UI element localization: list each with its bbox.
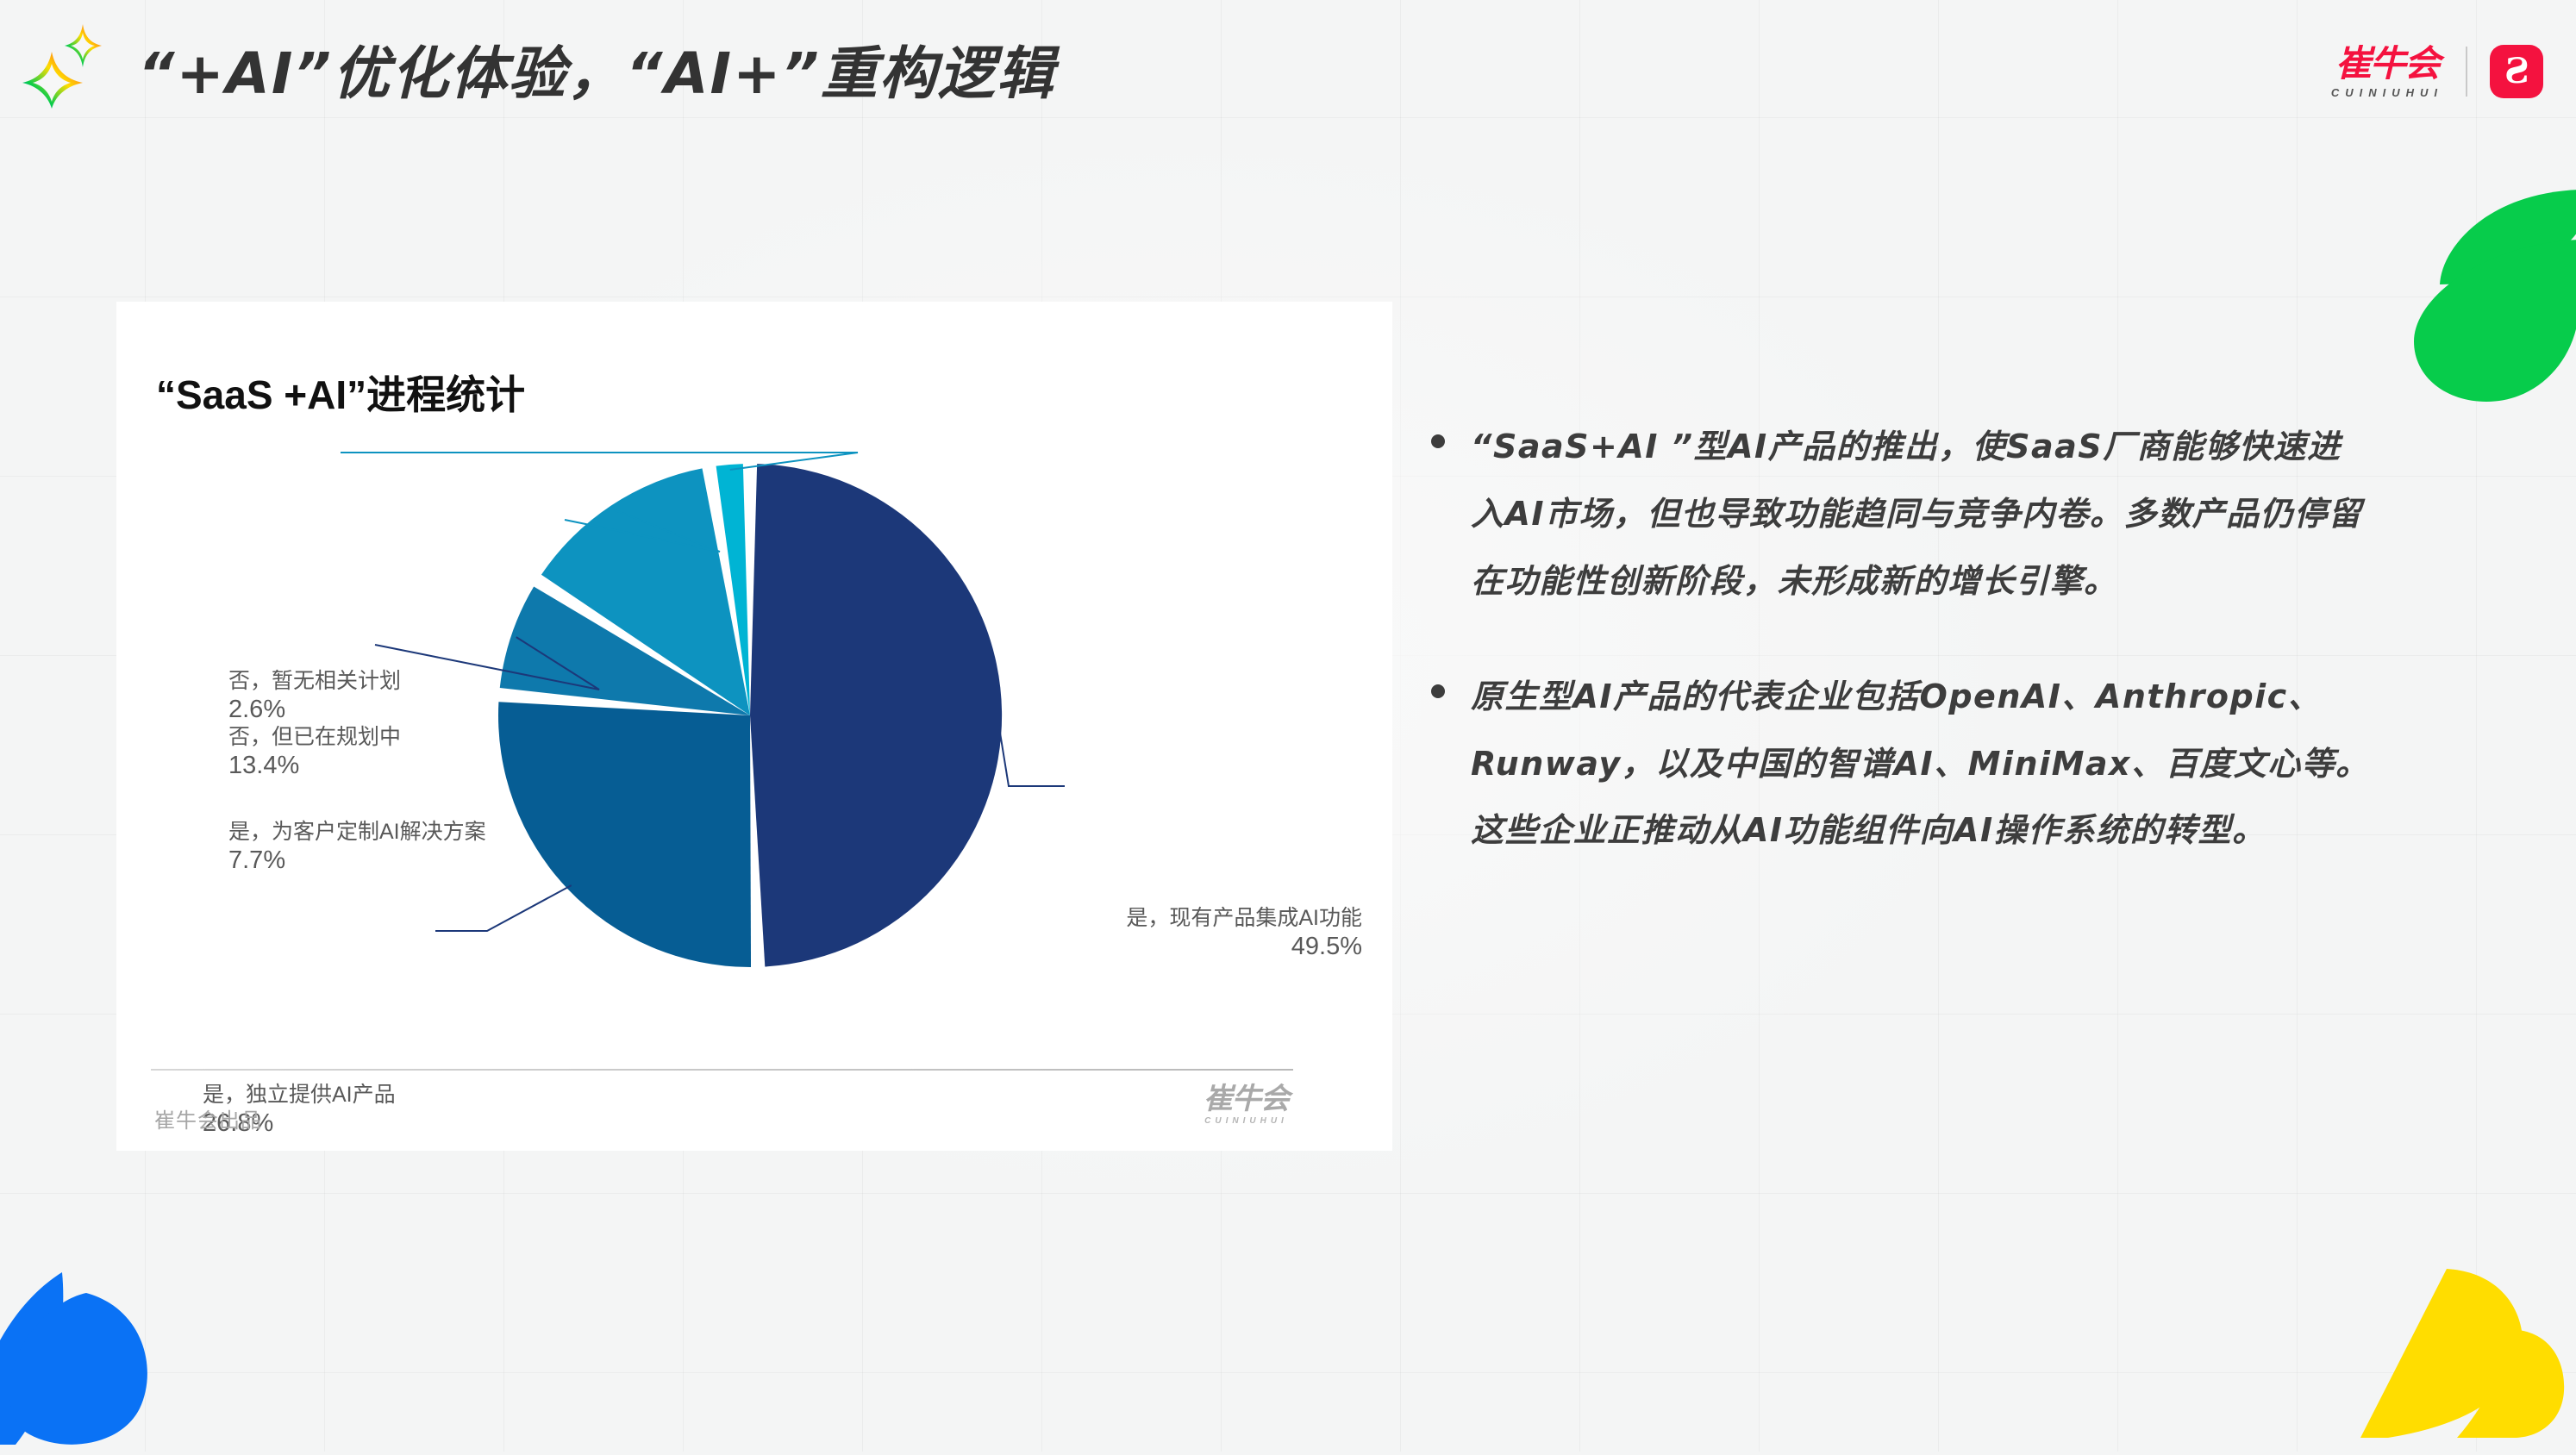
bullet-line: 原生型AI产品的代表企业包括OpenAI、Anthropic、 — [1471, 664, 2370, 731]
bullet-line: “SaaS+AI ”型AI产品的推出，使SaaS厂商能够快速进 — [1471, 414, 2362, 481]
page-title: “+AI”优化体验，“AI+”重构逻辑 — [138, 28, 1055, 110]
bullet-line: 这些企业正推动从AI功能组件向AI操作系统的转型。 — [1471, 797, 2370, 865]
bullet-text-1: “SaaS+AI ”型AI产品的推出，使SaaS厂商能够快速进 入AI市场，但也… — [1471, 414, 2362, 615]
card-divider — [151, 1069, 1293, 1071]
bullet-dot-icon — [1431, 684, 1445, 698]
cuiniuhui-logo-cn: 崔牛会 — [2335, 46, 2439, 82]
bullet-line: 在功能性创新阶段，未形成新的增长引擎。 — [1471, 548, 2362, 615]
sparkle-icon — [16, 19, 105, 109]
bullet-list: “SaaS+AI ”型AI产品的推出，使SaaS厂商能够快速进 入AI市场，但也… — [1431, 414, 2543, 913]
brand-area: 崔牛会 CUINIUHUI S — [2331, 45, 2543, 98]
slide-header: “+AI”优化体验，“AI+”重构逻辑 崔牛会 CUINIUHUI S — [0, 0, 2576, 102]
cuiniuhui-logo: 崔牛会 CUINIUHUI — [2331, 46, 2443, 98]
pie-slice-group — [498, 464, 1002, 967]
bullet-dot-icon — [1431, 434, 1445, 448]
brand-divider — [2466, 47, 2467, 97]
pie-slice — [498, 702, 751, 967]
pie-label-custom-solution: 是，为客户定制AI解决方案 7.7% — [228, 819, 486, 876]
chart-card: “SaaS +AI”进程统计 否，暂无相关计划 2.6% 否，但已在规划中 13… — [116, 302, 1392, 1151]
chart-title: “SaaS +AI”进程统计 — [156, 364, 525, 421]
pie-label-integrated-ai: 是，现有产品集成AI功能 49.5% — [1078, 905, 1362, 962]
yellow-leaf-decoration — [2354, 1260, 2569, 1450]
cuiniuhui-logo-en: CUINIUHUI — [2331, 87, 2443, 98]
card-footer-logo: 崔牛会 CUINIUHUI — [1204, 1084, 1289, 1126]
bullet-line: 入AI市场，但也导致功能趋同与竞争内卷。多数产品仍停留 — [1471, 481, 2362, 548]
card-credit: 崔牛会出品 — [154, 1103, 262, 1133]
card-footer-logo-en: CUINIUHUI — [1204, 1117, 1289, 1126]
bullet-line: Runway，以及中国的智谱AI、MiniMax、百度文心等。 — [1471, 731, 2370, 798]
green-leaf-decoration — [2357, 188, 2576, 403]
blue-leaf-decoration — [0, 1231, 205, 1455]
card-footer-logo-cn: 崔牛会 — [1204, 1084, 1289, 1114]
bullet-text-2: 原生型AI产品的代表企业包括OpenAI、Anthropic、 Runway，以… — [1471, 664, 2370, 865]
pie-label-no-plan: 否，暂无相关计划 2.6% — [228, 668, 401, 725]
list-item: “SaaS+AI ”型AI产品的推出，使SaaS厂商能够快速进 入AI市场，但也… — [1431, 414, 2543, 615]
badge-s-glyph: S — [2504, 54, 2529, 89]
pie-leader-line — [997, 712, 1065, 787]
pie-leader-line — [435, 885, 572, 931]
app-badge-icon: S — [2490, 45, 2543, 98]
pie-label-planning: 否，但已在规划中 13.4% — [228, 724, 401, 781]
list-item: 原生型AI产品的代表企业包括OpenAI、Anthropic、 Runway，以… — [1431, 664, 2543, 865]
pie-slice — [750, 464, 1002, 966]
